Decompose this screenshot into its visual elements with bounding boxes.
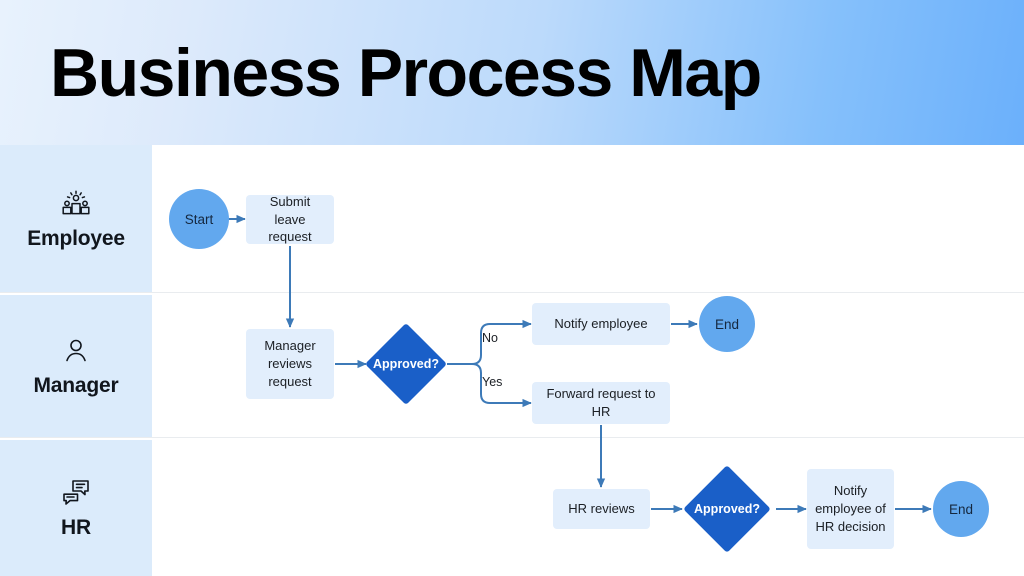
flow-node-notify-employee[interactable]: Notify employee [532, 303, 670, 345]
flow-node-label: Approved? [696, 478, 758, 540]
flow-node-label: Notify employee of HR decision [815, 482, 886, 536]
flow-node-end-hr[interactable]: End [933, 481, 989, 537]
flow-node-label: Notify employee [554, 315, 647, 333]
flow-node-label: Manager reviews request [254, 337, 326, 391]
business-process-map-page: Business Process Map Employee [0, 0, 1024, 576]
flow-node-hr-approved-decision[interactable]: Approved? [696, 478, 758, 540]
flow-node-forward-request-to-hr[interactable]: Forward request to HR [532, 382, 670, 424]
flow-node-manager-approved-decision[interactable]: Approved? [377, 335, 435, 393]
flow-node-submit-leave-request[interactable]: Submit leave request [246, 195, 334, 244]
flow-node-label: Submit leave request [254, 193, 326, 247]
flow-node-label: End [949, 502, 973, 517]
flow-node-hr-reviews[interactable]: HR reviews [553, 489, 650, 529]
flow-node-manager-reviews-request[interactable]: Manager reviews request [246, 329, 334, 399]
branch-label-yes: Yes [482, 375, 502, 389]
flow-node-label: HR reviews [568, 500, 634, 518]
flow-node-label: Forward request to HR [540, 385, 662, 421]
flow-node-notify-employee-of-hr-decision[interactable]: Notify employee of HR decision [807, 469, 894, 549]
branch-label-no: No [482, 331, 498, 345]
flow-node-label: Approved? [377, 335, 435, 393]
flow-node-label: Start [185, 212, 214, 227]
flow-node-end-manager[interactable]: End [699, 296, 755, 352]
flow-node-label: End [715, 317, 739, 332]
flow-node-start[interactable]: Start [169, 189, 229, 249]
